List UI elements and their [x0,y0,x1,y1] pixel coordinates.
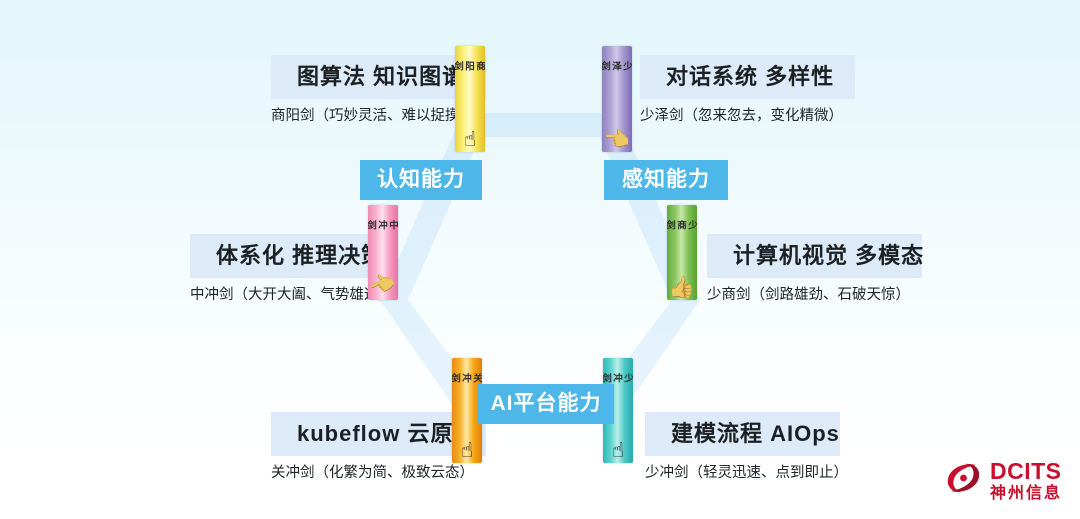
sword-label: 少商剑 [667,220,697,230]
hand-point-up-icon: ☝ [612,440,625,461]
sword-zhongchongjian[interactable]: 中冲剑 👈 [368,205,398,300]
node-top-right[interactable]: 对话系统 多样性 少泽剑（忽来忽去，变化精微） [640,55,855,125]
sword-label: 中冲剑 [368,220,398,230]
hand-point-up-icon: ☝ [461,440,474,461]
sword-shaozejian[interactable]: 少泽剑 👈 [602,46,632,152]
node-bottom-right[interactable]: 建模流程 AIOps 少冲剑（轻灵迅速、点到即止） [645,412,848,482]
sword-label: 少冲剑 [603,373,633,383]
dcits-logo: DCITS 神州信息 [943,458,1062,503]
capability-ai-platform[interactable]: AI平台能力 [478,384,614,424]
node-subtitle: 中冲剑（大开大阖、气势雄迈） [190,287,395,304]
node-top-left[interactable]: 图算法 知识图谱 商阳剑（巧妙灵活、难以捉摸） [271,55,486,125]
sword-shaoshangjian[interactable]: 少商剑 👍 [667,205,697,300]
swirl-icon [943,458,983,503]
hand-point-side-icon: 👈 [368,270,398,300]
sword-shangyangjian[interactable]: 商阳剑 ☝ [455,46,485,152]
node-subtitle: 商阳剑（巧妙灵活、难以捉摸） [271,108,486,125]
node-subtitle: 少冲剑（轻灵迅速、点到即止） [645,465,848,482]
hand-thumbs-up-icon: 👍 [669,277,695,298]
node-title: 对话系统 多样性 [640,55,855,99]
diagram-canvas: 图算法 知识图谱 商阳剑（巧妙灵活、难以捉摸） 商阳剑 ☝ 对话系统 多样性 少… [0,0,1080,519]
node-mid-left[interactable]: 体系化 推理决策 中冲剑（大开大阖、气势雄迈） [190,234,395,304]
node-title: 体系化 推理决策 [190,234,395,278]
node-subtitle: 关冲剑（化繁为简、极致云态） [271,465,486,482]
node-title: 建模流程 AIOps [645,412,840,456]
brand-name-cn: 神州信息 [990,486,1062,502]
hand-point-left-icon: 👈 [604,129,630,150]
brand-name-en: DCITS [990,460,1062,483]
sword-label: 商阳剑 [455,61,485,71]
node-subtitle: 少泽剑（忽来忽去，变化精微） [640,108,855,125]
hand-point-up-icon: ☝ [464,129,477,150]
capability-perceptive[interactable]: 感知能力 [604,160,728,200]
sword-label: 少泽剑 [602,61,632,71]
node-title: 计算机视觉 多模态 [707,234,922,278]
node-mid-right[interactable]: 计算机视觉 多模态 少商剑（剑路雄劲、石破天惊） [707,234,922,304]
sword-label: 关冲剑 [452,373,482,383]
node-title: 图算法 知识图谱 [271,55,486,99]
node-subtitle: 少商剑（剑路雄劲、石破天惊） [707,287,922,304]
capability-cognitive[interactable]: 认知能力 [360,160,482,200]
